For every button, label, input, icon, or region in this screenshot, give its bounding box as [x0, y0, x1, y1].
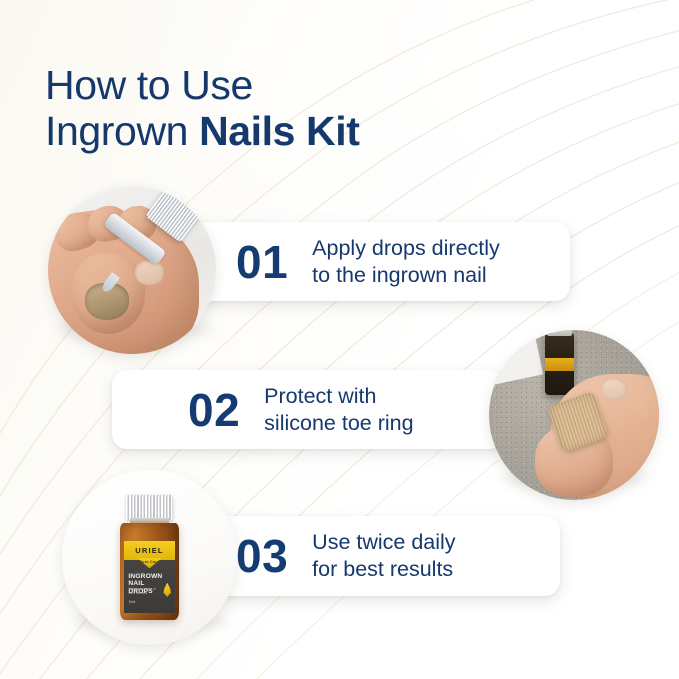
product-bottle: URIEL Foot Care INGROWN NAIL DROPS Softe… — [116, 495, 183, 621]
uriel-ingrown-nail-drops-bottle-photo: URIEL Foot Care INGROWN NAIL DROPS Softe… — [62, 470, 237, 645]
step-number-03: 03 — [236, 533, 288, 579]
brand-name: URIEL — [135, 546, 164, 555]
step-text-03: Use twice daily for best results — [312, 529, 455, 582]
product-bottle-in-photo — [545, 333, 574, 394]
step-card-02[interactable]: 02 Protect with silicone toe ring — [112, 370, 504, 449]
step-text-02: Protect with silicone toe ring — [264, 383, 413, 436]
step-text-02-line-1: Protect with — [264, 383, 413, 410]
title-line-1: How to Use — [45, 62, 253, 108]
step-text-01-line-2: to the ingrown nail — [312, 262, 500, 289]
title-line-2-bold: Nails Kit — [199, 108, 359, 154]
step-text-01-line-1: Apply drops directly — [312, 235, 500, 262]
step-text-01: Apply drops directly to the ingrown nail — [312, 235, 500, 288]
dropper-applying-to-toenail-photo — [48, 186, 216, 354]
product-name-line-1: INGROWN — [128, 573, 166, 581]
step-number-01: 01 — [236, 239, 288, 285]
step-number-02: 02 — [188, 387, 240, 433]
product-description: Softens ingrown or hard toenails — [128, 587, 160, 595]
page-title: How to Use Ingrown Nails Kit — [45, 63, 605, 155]
step-text-03-line-2: for best results — [312, 556, 455, 583]
step-text-03-line-1: Use twice daily — [312, 529, 455, 556]
silicone-toe-ring-on-foot-photo — [489, 330, 659, 500]
infographic-canvas: How to Use Ingrown Nails Kit 01 Apply dr… — [0, 0, 679, 679]
bottle-cap — [126, 495, 174, 520]
title-line-2-regular: Ingrown — [45, 108, 199, 154]
brand-tagline: Foot Care — [124, 560, 175, 564]
step-text-02-line-2: silicone toe ring — [264, 410, 413, 437]
title-line-2: Ingrown Nails Kit — [45, 109, 605, 155]
product-volume: 15ml — [128, 600, 135, 604]
